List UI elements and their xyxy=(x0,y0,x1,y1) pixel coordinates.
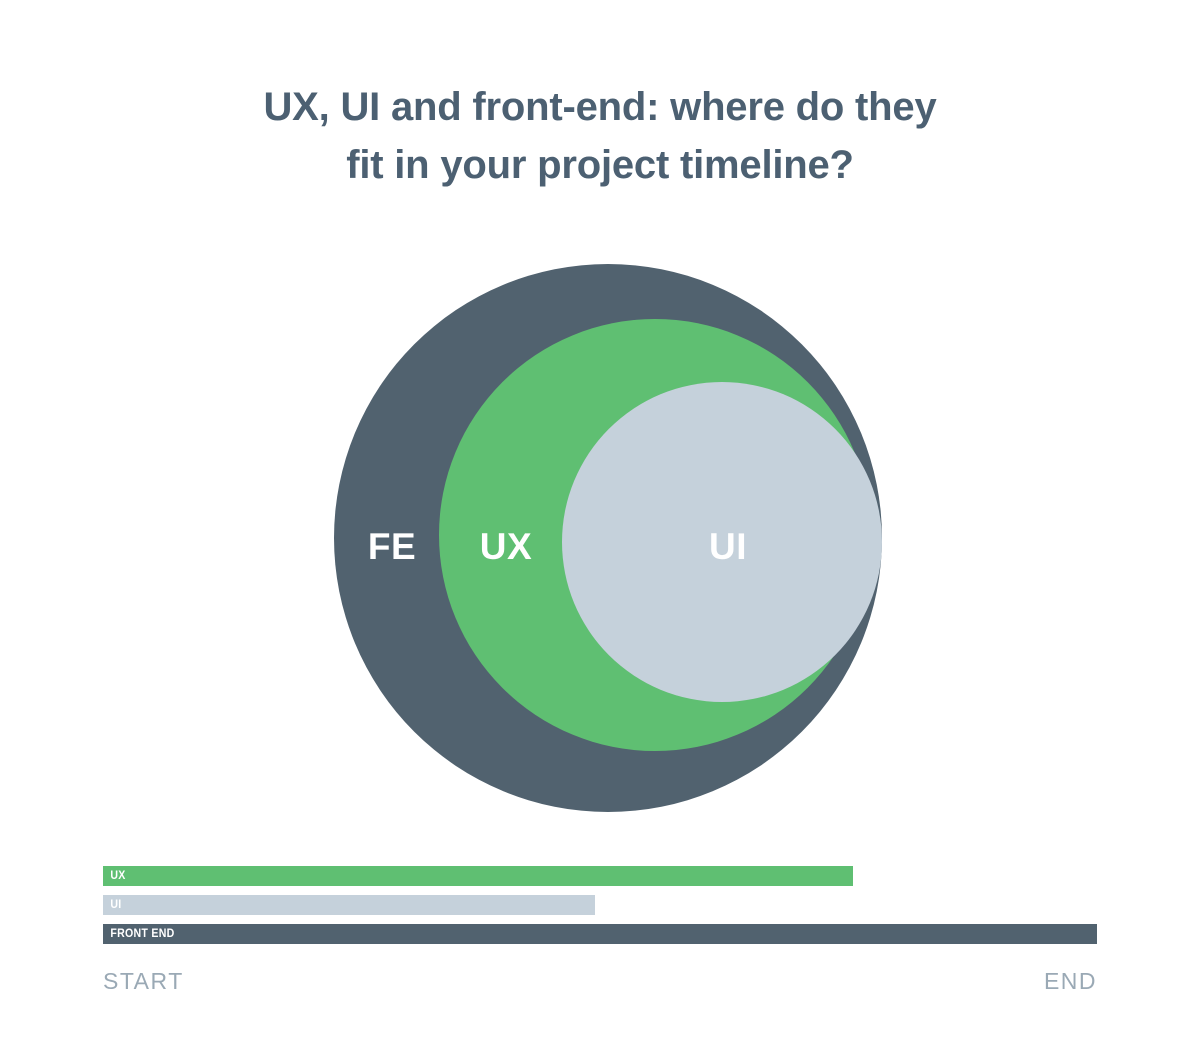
timeline-row-front-end: FRONT END xyxy=(103,924,1097,944)
page-title: UX, UI and front-end: where do they fit … xyxy=(140,78,1060,194)
timeline-axis: START END xyxy=(103,968,1097,995)
title-line-2: fit in your project timeline? xyxy=(140,136,1060,194)
venn-label-ux: UX xyxy=(480,526,532,568)
circle-fe xyxy=(334,264,882,812)
timeline-row-ui: UI xyxy=(103,895,1097,915)
venn-label-fe: FE xyxy=(368,526,416,568)
axis-label-start: START xyxy=(103,968,184,995)
timeline-bar-label-front-end: FRONT END xyxy=(103,928,175,940)
timeline-bar-label-ux: UX xyxy=(103,870,126,882)
timeline-row-ux: UX xyxy=(103,866,1097,886)
title-line-1: UX, UI and front-end: where do they xyxy=(140,78,1060,136)
timeline-bar-label-ui: UI xyxy=(103,899,122,911)
timeline-bar-ui: UI xyxy=(103,895,595,915)
circle-ui xyxy=(562,382,882,702)
axis-label-end: END xyxy=(1044,968,1097,995)
timeline-bars: UX UI FRONT END xyxy=(103,866,1097,953)
circle-ux xyxy=(439,319,871,751)
venn-label-ui: UI xyxy=(709,526,747,568)
infographic-canvas: UX, UI and front-end: where do they fit … xyxy=(0,0,1200,1042)
timeline-bar-ux: UX xyxy=(103,866,853,886)
timeline-bar-front-end: FRONT END xyxy=(103,924,1097,944)
